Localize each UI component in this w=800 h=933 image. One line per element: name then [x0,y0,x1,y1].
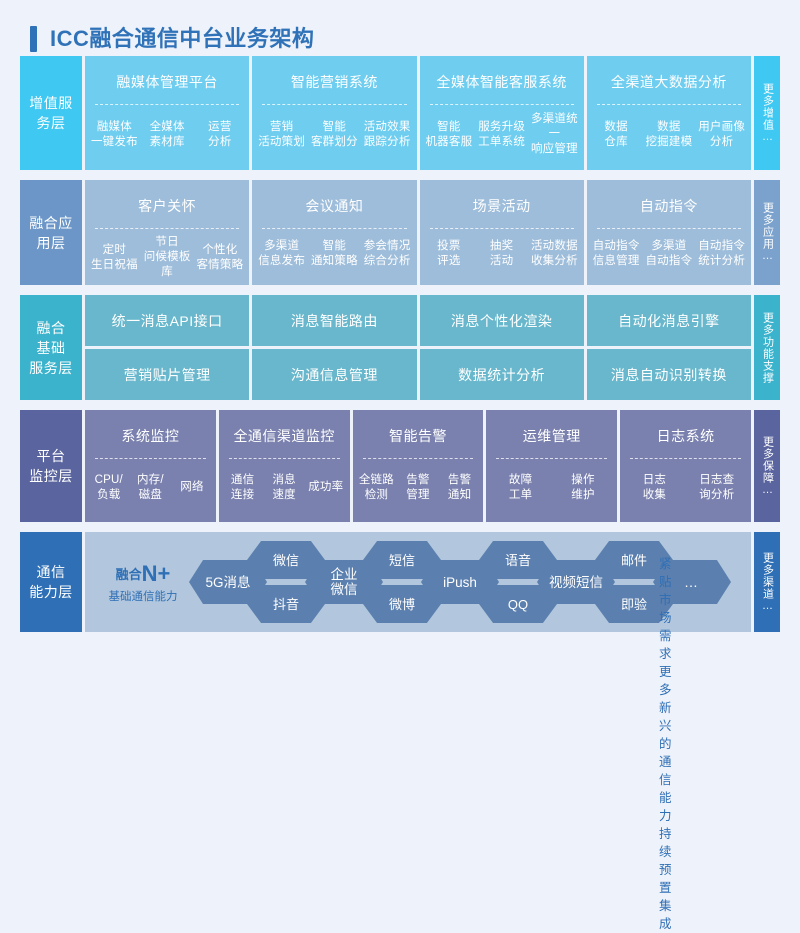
sub-item[interactable]: 抽奖 活动 [476,239,527,269]
block-title: 运维管理 [486,410,617,458]
layer-body-fusion-application: 客户关怀 定时 生日祝福 节日 问候模板库 个性化 客情策略 会议通知 多渠道 … [85,180,751,285]
block-subs: 智能 机器客服 服务升级 工单系统 多渠道统一 响应管理 [420,105,584,170]
layer-label-value-added: 增值服 务层 [20,56,82,170]
sub-item[interactable]: 自动指令 统计分析 [696,239,747,269]
block-customer-care[interactable]: 客户关怀 定时 生日祝福 节日 问候模板库 个性化 客情策略 [85,180,249,285]
sub-item[interactable]: 自动指令 信息管理 [591,239,642,269]
cell-message-smart-routing[interactable]: 消息智能路由 [252,295,416,346]
communication-hex-area: 融合N+ 基础通信能力 5G消息 微信 抖音 企业 微信 短信 微博 iPush… [85,532,751,632]
sub-item[interactable]: 活动数据 收集分析 [529,239,580,269]
block-title: 客户关怀 [85,180,249,228]
base-service-row-1: 统一消息API接口 消息智能路由 消息个性化渲染 自动化消息引擎 [85,295,751,346]
sub-item[interactable]: 日志 收集 [624,473,684,503]
layer-communication-ability: 通信 能力层 融合N+ 基础通信能力 5G消息 微信 抖音 企业 微信 短信 微… [20,532,780,632]
block-title: 智能营销系统 [252,56,416,104]
block-omnichannel-bigdata[interactable]: 全渠道大数据分析 数据 仓库 数据 挖掘建模 用户画像 分析 [587,56,751,170]
cell-data-statistics-analysis[interactable]: 数据统计分析 [420,349,584,400]
title-accent-bar [30,26,37,52]
block-smart-marketing[interactable]: 智能营销系统 营销 活动策划 智能 客群划分 活动效果 跟踪分析 [252,56,416,170]
sub-item[interactable]: 多渠道统一 响应管理 [529,112,580,157]
layer-body-value-added: 融媒体管理平台 融媒体 一键发布 全媒体 素材库 运营 分析 智能营销系统 营销… [85,56,751,170]
layer-fusion-base-service: 融合 基础 服务层 统一消息API接口 消息智能路由 消息个性化渲染 自动化消息… [20,295,780,400]
sub-item[interactable]: 全媒体 素材库 [142,120,193,150]
sub-item[interactable]: 智能 机器客服 [424,120,475,150]
block-ops-management[interactable]: 运维管理 故障 工单 操作 维护 [486,410,617,522]
sub-item[interactable]: 节日 问候模板库 [142,235,193,280]
cell-communication-info-management[interactable]: 沟通信息管理 [252,349,416,400]
block-subs: 营销 活动策划 智能 客群划分 活动效果 跟踪分析 [252,105,416,170]
sub-item[interactable]: 参会情况 综合分析 [362,239,413,269]
sub-item[interactable]: 多渠道 信息发布 [256,239,307,269]
layer-label-fusion-base-service: 融合 基础 服务层 [20,295,82,400]
block-title: 全渠道大数据分析 [587,56,751,104]
page-header: ICC融合通信中台业务架构 [0,0,800,56]
sub-item[interactable]: 融媒体 一键发布 [89,120,140,150]
layer-value-added: 增值服 务层 融媒体管理平台 融媒体 一键发布 全媒体 素材库 运营 分析 智能… [20,56,780,170]
block-log-system[interactable]: 日志系统 日志 收集 日志查 询分析 [620,410,751,522]
sub-item[interactable]: 个性化 客情策略 [195,243,246,273]
sub-item[interactable]: 日志查 询分析 [687,473,747,503]
cell-message-personalized-render[interactable]: 消息个性化渲染 [420,295,584,346]
sub-item[interactable]: 服务升级 工单系统 [476,120,527,150]
block-subs: 全链路 检测 告警 管理 告警 通知 [353,459,484,522]
base-service-row-2: 营销贴片管理 沟通信息管理 数据统计分析 消息自动识别转换 [85,349,751,400]
sub-item[interactable]: 告警 管理 [398,473,438,503]
sub-item[interactable]: 故障 工单 [490,473,550,503]
block-subs: 通信 连接 消息 速度 成功率 [219,459,350,522]
block-title: 全媒体智能客服系统 [420,56,584,104]
block-title: 全通信渠道监控 [219,410,350,458]
layer-body-platform-monitor: 系统监控 CPU/ 负载 内存/ 磁盘 网络 全通信渠道监控 通信 连接 消息 … [85,410,751,522]
block-title: 自动指令 [587,180,751,228]
block-auto-instruction[interactable]: 自动指令 自动指令 信息管理 多渠道 自动指令 自动指令 统计分析 [587,180,751,285]
sub-item[interactable]: 全链路 检测 [357,473,397,503]
sub-item[interactable]: 数据 挖掘建模 [644,120,695,150]
more-strip-fusion-application[interactable]: 更多应用… [754,180,780,285]
sub-item[interactable]: 通信 连接 [223,473,263,503]
block-title: 会议通知 [252,180,416,228]
layer-body-fusion-base-service: 统一消息API接口 消息智能路由 消息个性化渲染 自动化消息引擎 营销贴片管理 … [85,295,751,400]
sub-item[interactable]: 多渠道 自动指令 [644,239,695,269]
fuse-bottom-line: 基础通信能力 [97,590,189,604]
layer-label-communication-ability: 通信 能力层 [20,532,82,632]
hexagon-cluster: 5G消息 微信 抖音 企业 微信 短信 微博 iPush 语音 QQ 视频短信 … [189,539,639,625]
sub-item[interactable]: 定时 生日祝福 [89,243,140,273]
sub-item[interactable]: CPU/ 负载 [89,473,129,503]
sub-item[interactable]: 数据 仓库 [591,120,642,150]
more-strip-communication-ability[interactable]: 更多渠道… [754,532,780,632]
sub-item[interactable]: 网络 [172,480,212,495]
layer-platform-monitor: 平台 监控层 系统监控 CPU/ 负载 内存/ 磁盘 网络 全通信渠道监控 通信… [20,410,780,522]
cell-message-auto-recognition[interactable]: 消息自动识别转换 [587,349,751,400]
more-strip-fusion-base-service[interactable]: 更多功能支撑 [754,295,780,400]
sub-item[interactable]: 运营 分析 [195,120,246,150]
block-title: 系统监控 [85,410,216,458]
sub-item[interactable]: 操作 维护 [553,473,613,503]
sub-item[interactable]: 告警 通知 [440,473,480,503]
fuse-capability-caption: 融合N+ 基础通信能力 [97,560,189,604]
block-subs: 投票 评选 抽奖 活动 活动数据 收集分析 [420,229,584,285]
block-title: 日志系统 [620,410,751,458]
block-smart-alarm[interactable]: 智能告警 全链路 检测 告警 管理 告警 通知 [353,410,484,522]
layer-label-platform-monitor: 平台 监控层 [20,410,82,522]
page-title: ICC融合通信中台业务架构 [50,26,314,52]
layer-fusion-application: 融合应 用层 客户关怀 定时 生日祝福 节日 问候模板库 个性化 客情策略 会议… [20,180,780,285]
sub-item[interactable]: 消息 速度 [264,473,304,503]
sub-item[interactable]: 营销 活动策划 [256,120,307,150]
block-title: 智能告警 [353,410,484,458]
block-subs: 多渠道 信息发布 智能 通知策略 参会情况 综合分析 [252,229,416,285]
sub-item[interactable]: 活动效果 跟踪分析 [362,120,413,150]
block-media-platform[interactable]: 融媒体管理平台 融媒体 一键发布 全媒体 素材库 运营 分析 [85,56,249,170]
block-scenario-activity[interactable]: 场景活动 投票 评选 抽奖 活动 活动数据 收集分析 [420,180,584,285]
block-subs: 定时 生日祝福 节日 问候模板库 个性化 客情策略 [85,229,249,292]
sub-item[interactable]: 智能 客群划分 [309,120,360,150]
fuse-np-label: N+ [142,561,171,586]
fuse-prefix: 融合 [116,567,142,582]
sub-item[interactable]: 智能 通知策略 [309,239,360,269]
block-title: 融媒体管理平台 [85,56,249,104]
block-subs: 数据 仓库 数据 挖掘建模 用户画像 分析 [587,105,751,170]
more-strip-platform-monitor[interactable]: 更多保障… [754,410,780,522]
more-strip-value-added[interactable]: 更多增值… [754,56,780,170]
block-meeting-notice[interactable]: 会议通知 多渠道 信息发布 智能 通知策略 参会情况 综合分析 [252,180,416,285]
fuse-top-line: 融合N+ [97,560,189,588]
block-subs: CPU/ 负载 内存/ 磁盘 网络 [85,459,216,522]
block-channel-monitor[interactable]: 全通信渠道监控 通信 连接 消息 速度 成功率 [219,410,350,522]
sub-item[interactable]: 内存/ 磁盘 [131,473,171,503]
block-system-monitor[interactable]: 系统监控 CPU/ 负载 内存/ 磁盘 网络 [85,410,216,522]
communication-tagline: 紧贴市场需求 更多新兴的通信能力 持续预置集成 [659,555,672,933]
block-title: 场景活动 [420,180,584,228]
block-subs: 故障 工单 操作 维护 [486,459,617,522]
sub-item[interactable]: 成功率 [306,480,346,495]
cell-marketing-patch-management[interactable]: 营销贴片管理 [85,349,249,400]
block-smart-customer-service[interactable]: 全媒体智能客服系统 智能 机器客服 服务升级 工单系统 多渠道统一 响应管理 [420,56,584,170]
cell-unified-message-api[interactable]: 统一消息API接口 [85,295,249,346]
sub-item[interactable]: 用户画像 分析 [696,120,747,150]
block-subs: 融媒体 一键发布 全媒体 素材库 运营 分析 [85,105,249,170]
sub-item[interactable]: 投票 评选 [424,239,475,269]
layer-label-fusion-application: 融合应 用层 [20,180,82,285]
block-subs: 日志 收集 日志查 询分析 [620,459,751,522]
block-subs: 自动指令 信息管理 多渠道 自动指令 自动指令 统计分析 [587,229,751,285]
cell-automated-message-engine[interactable]: 自动化消息引擎 [587,295,751,346]
